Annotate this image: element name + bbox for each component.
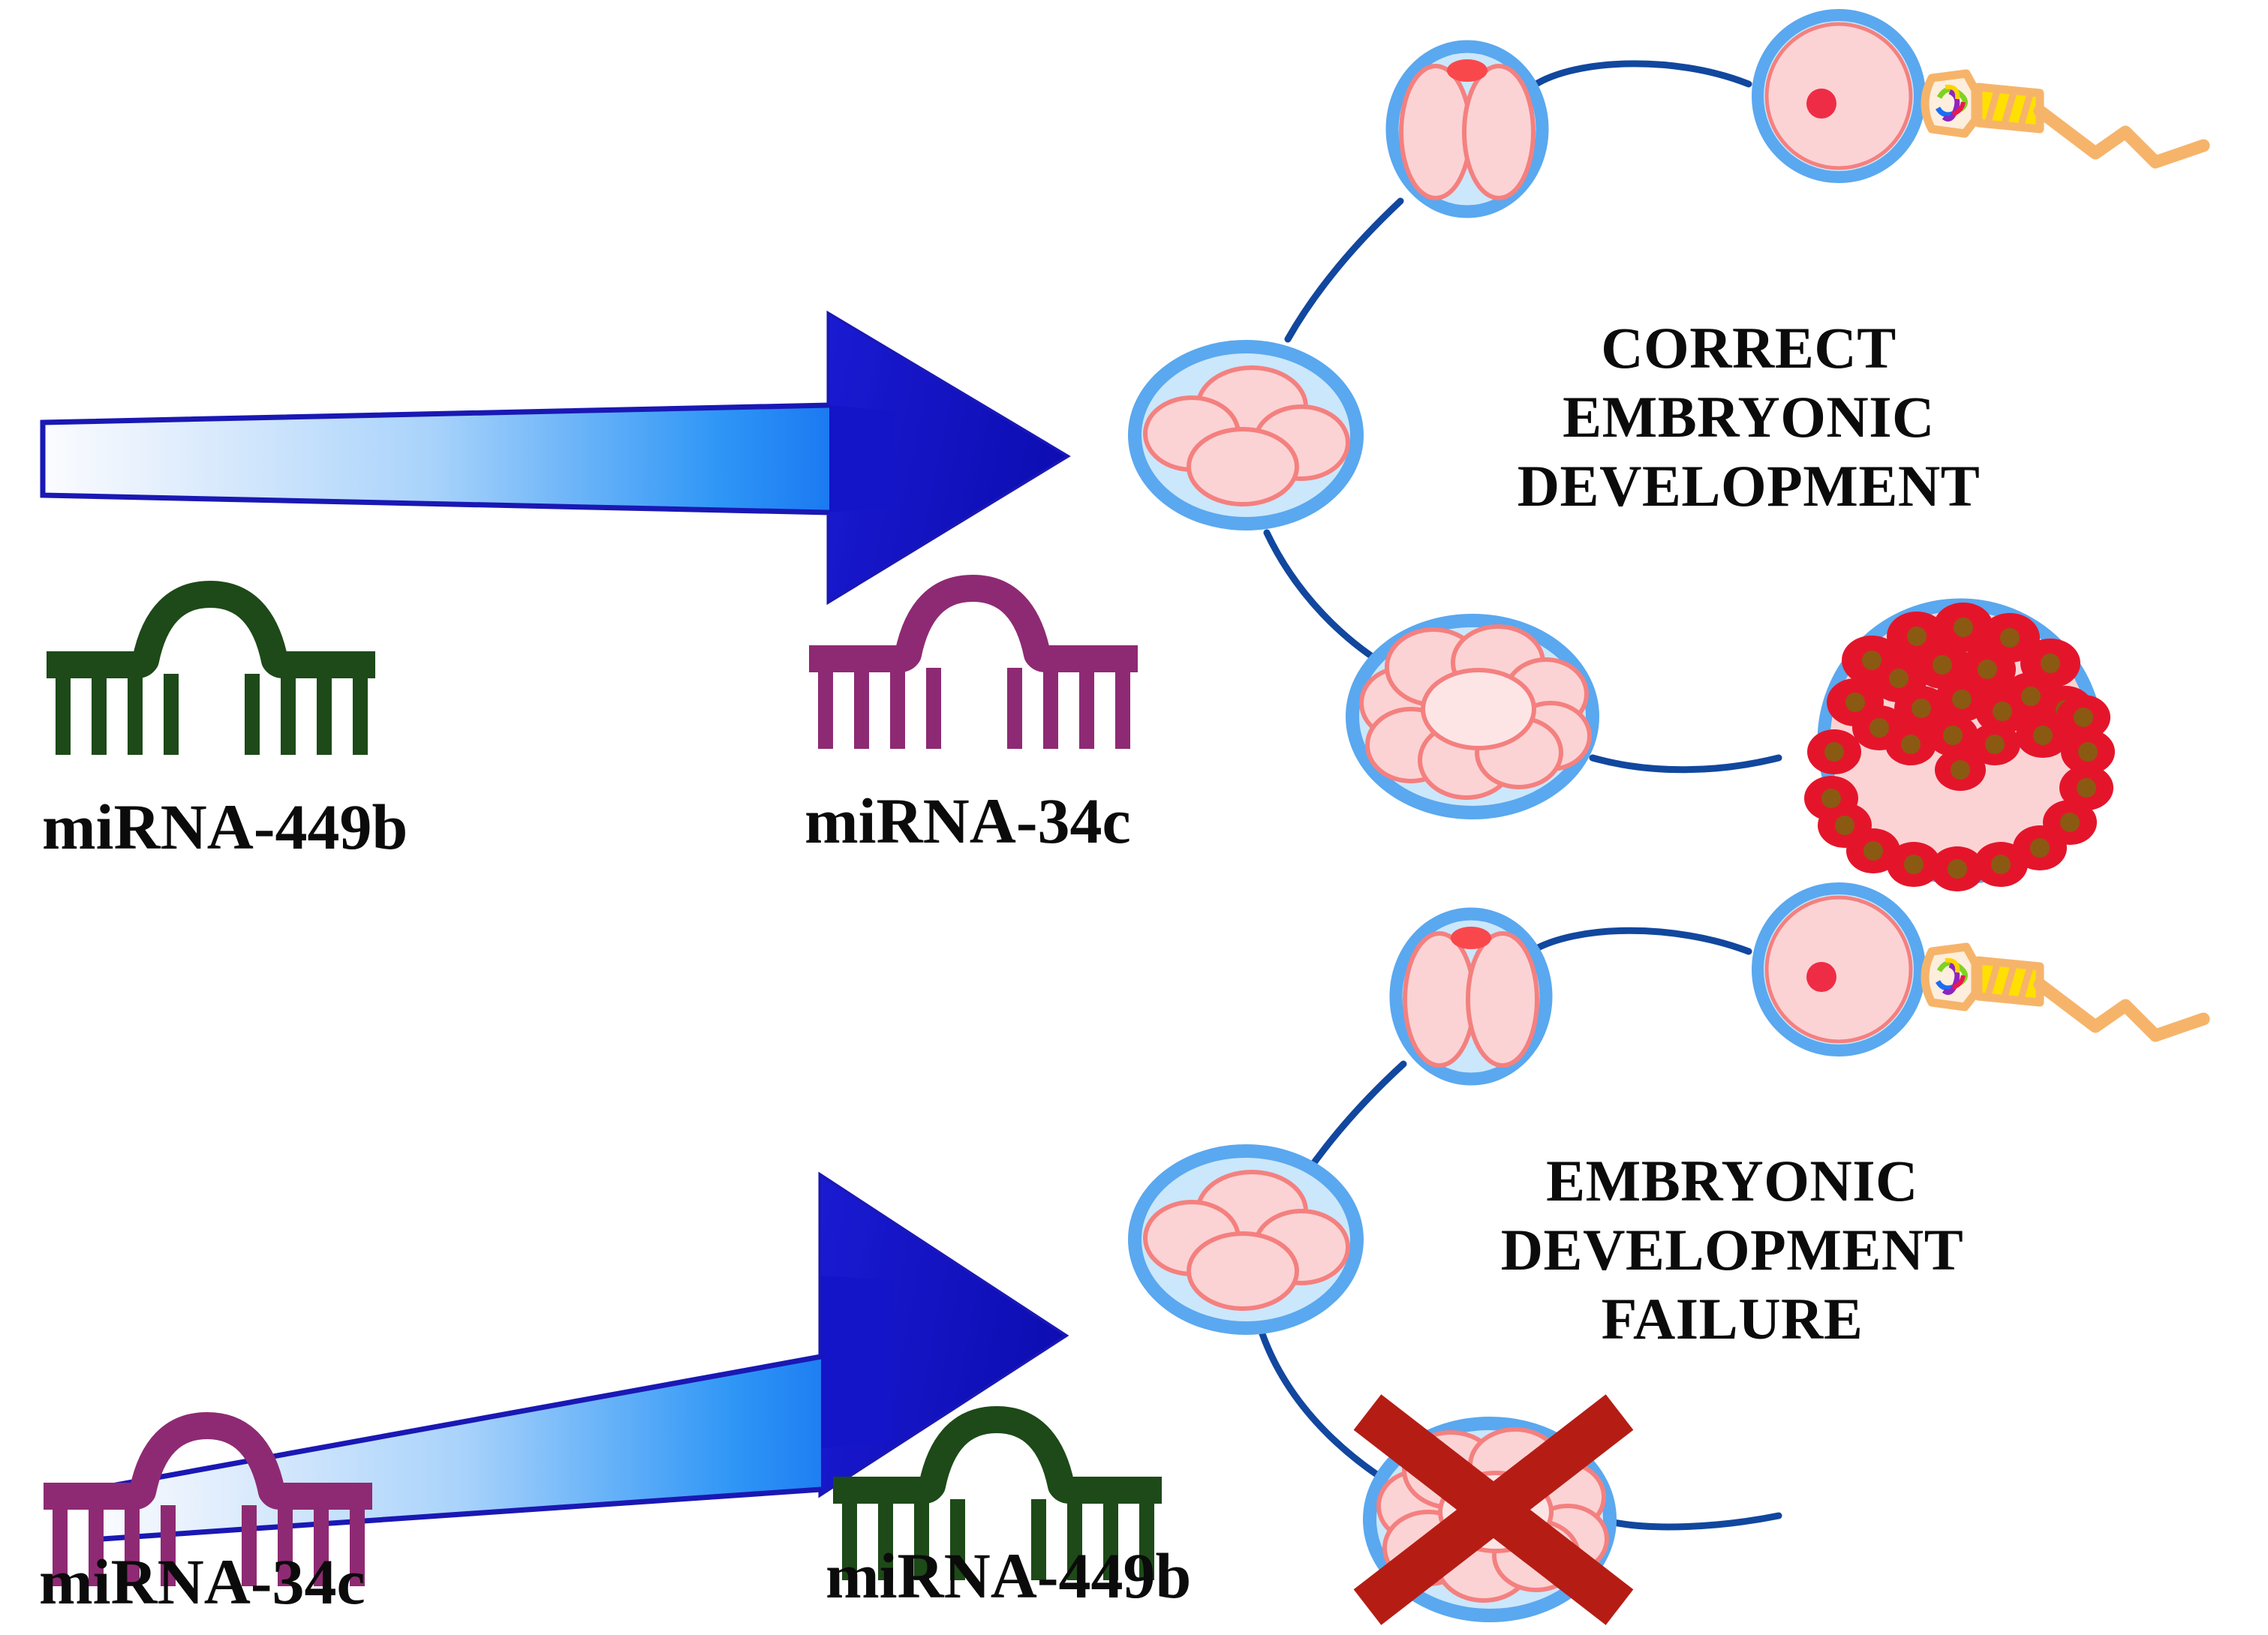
- outcome-line: EMBRYONIC: [1484, 1147, 1980, 1216]
- outcome-line: DEVELOPMENT: [1484, 1216, 1980, 1285]
- outcome-text-correct: CORRECT EMBRYONIC DEVELOPMENT: [1501, 314, 1996, 521]
- mirna-label-top-middle: miRNA-34c: [805, 783, 1131, 858]
- outcome-line: EMBRYONIC: [1501, 383, 1996, 452]
- outcome-line: CORRECT: [1501, 314, 1996, 383]
- outcome-line: FAILURE: [1484, 1285, 1980, 1354]
- mirna-label-bottom-left: miRNA-34c: [39, 1544, 365, 1619]
- mirna-34c-icon-top: [809, 588, 1138, 749]
- mirna-label-top-left: miRNA-449b: [42, 789, 408, 864]
- mirna-label-bottom-middle: miRNA-449b: [826, 1538, 1191, 1613]
- outcome-line: DEVELOPMENT: [1501, 452, 1996, 521]
- mirna-449b-icon-top: [47, 594, 375, 755]
- outcome-text-failure: EMBRYONIC DEVELOPMENT FAILURE: [1484, 1147, 1980, 1354]
- figure-canvas: miRNA-449b miRNA-34c miRNA-34c miRNA-449…: [0, 0, 2268, 1635]
